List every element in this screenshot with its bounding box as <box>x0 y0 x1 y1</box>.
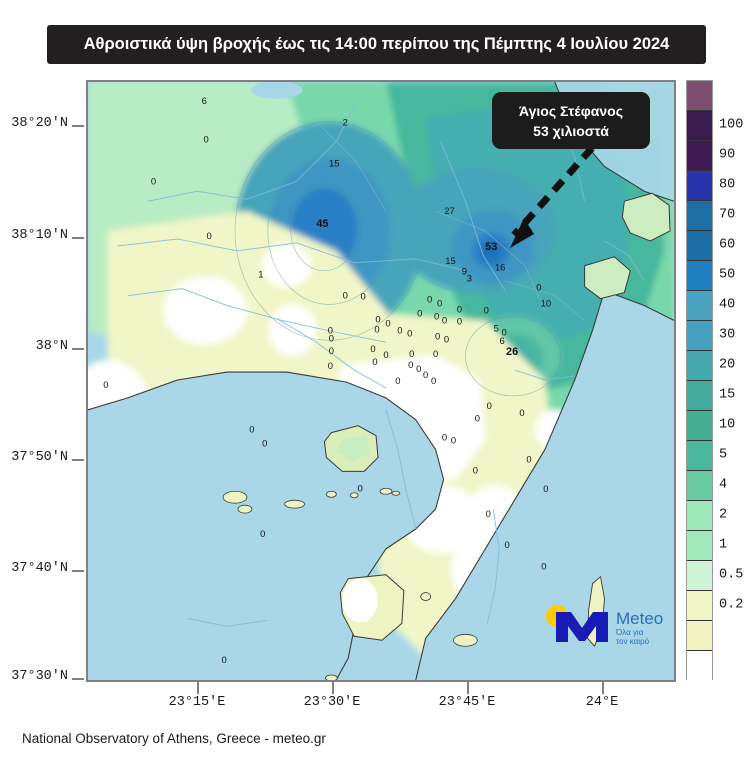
station-value: 0 <box>383 349 388 360</box>
station-value: 0 <box>207 230 212 241</box>
station-value: 0 <box>431 375 436 386</box>
station-value: 0 <box>487 400 492 411</box>
latitude-tick-mark <box>72 237 84 239</box>
colorbar-band <box>687 561 712 591</box>
station-value: 0 <box>427 294 432 305</box>
colorbar-band <box>687 621 712 651</box>
latitude-tick-label: 38°20'N <box>11 116 68 131</box>
station-value: 0 <box>417 307 422 318</box>
station-value: 0 <box>370 343 375 354</box>
station-value: 3 <box>467 273 472 284</box>
colorbar-band <box>687 291 712 321</box>
colorbar-band <box>687 141 712 171</box>
station-value: 0 <box>360 291 365 302</box>
station-value: 0 <box>372 356 377 367</box>
station-value: 45 <box>316 218 328 230</box>
station-value: 0 <box>358 482 363 493</box>
station-value: 6 <box>202 95 207 106</box>
latitude-tick-mark <box>72 570 84 572</box>
station-value: 0 <box>433 348 438 359</box>
colorbar-band <box>687 231 712 261</box>
station-value: 0 <box>473 464 478 475</box>
station-value: 0 <box>408 359 413 370</box>
longitude-tick-mark <box>332 682 334 694</box>
station-value: 0 <box>409 348 414 359</box>
station-value: 0 <box>541 561 546 572</box>
colorbar-tick-label: 100 <box>719 118 743 133</box>
station-value: 26 <box>506 346 518 358</box>
longitude-tick-label: 23°15'E <box>169 695 226 710</box>
colorbar[interactable] <box>686 80 713 680</box>
colorbar-band <box>687 441 712 471</box>
station-value: 0 <box>328 360 333 371</box>
station-value: 0 <box>434 310 439 321</box>
page-title: Αθροιστικά ύψη βροχής έως τις 14:00 περί… <box>84 35 670 54</box>
colorbar-tick-label: 30 <box>719 328 735 343</box>
colorbar-band <box>687 411 712 441</box>
station-value: 0 <box>329 332 334 343</box>
colorbar-band <box>687 81 712 111</box>
latitude-tick-mark <box>72 125 84 127</box>
station-value: 0 <box>374 323 379 334</box>
station-value: 16 <box>495 262 505 273</box>
colorbar-tick-label: 40 <box>719 298 735 313</box>
station-value: 53 <box>485 241 497 253</box>
station-value: 0 <box>221 654 226 665</box>
longitude-tick-label: 23°30'E <box>304 695 361 710</box>
station-value: 0 <box>543 483 548 494</box>
longitude-tick-mark <box>602 682 604 694</box>
colorbar-band <box>687 471 712 501</box>
station-value: 0 <box>204 134 209 145</box>
station-value: 0 <box>407 327 412 338</box>
colorbar-band <box>687 381 712 411</box>
colorbar-tick-label: 5 <box>719 448 727 463</box>
station-value: 27 <box>444 205 454 216</box>
colorbar-tick-label: 70 <box>719 208 735 223</box>
station-value: 0 <box>486 508 491 519</box>
station-value: 15 <box>445 255 455 266</box>
annotation-callout[interactable]: Άγιος Στέφανος 53 χιλιοστά <box>492 92 650 149</box>
latitude-tick-mark <box>72 348 84 350</box>
latitude-tick-mark <box>72 459 84 461</box>
station-value: 0 <box>442 432 447 443</box>
longitude-tick-mark <box>467 682 469 694</box>
longitude-tick-mark <box>197 682 199 694</box>
colorbar-tick-label: 1 <box>719 538 727 553</box>
colorbar-tick-label: 20 <box>719 358 735 373</box>
station-value: 0 <box>435 330 440 341</box>
rainfall-map[interactable]: 6201502704553151693101000000000000000005… <box>86 80 676 682</box>
station-value: 10 <box>541 297 551 308</box>
colorbar-tick-label: 2 <box>719 508 727 523</box>
colorbar-band <box>687 321 712 351</box>
station-value: 1 <box>258 269 263 280</box>
latitude-tick-mark <box>72 678 84 680</box>
station-value: 0 <box>457 303 462 314</box>
station-value: 5 <box>494 322 499 333</box>
station-value: 15 <box>329 157 339 168</box>
latitude-tick-label: 37°50'N <box>11 450 68 465</box>
colorbar-band <box>687 501 712 531</box>
station-value: 0 <box>249 424 254 435</box>
colorbar-tick-label: 80 <box>719 178 735 193</box>
station-value: 0 <box>395 375 400 386</box>
latitude-tick-label: 38°N <box>36 339 68 354</box>
station-value: 0 <box>519 407 524 418</box>
station-value: 0 <box>385 317 390 328</box>
colorbar-band <box>687 171 712 201</box>
colorbar-band <box>687 261 712 291</box>
colorbar-tick-label: 10 <box>719 418 735 433</box>
longitude-tick-label: 23°45'E <box>439 695 496 710</box>
map-canvas: 6201502704553151693101000000000000000005… <box>88 82 674 680</box>
station-value: 6 <box>500 335 505 346</box>
station-value: 0 <box>151 175 156 186</box>
colorbar-tick-label: 4 <box>719 478 727 493</box>
colorbar-band <box>687 201 712 231</box>
meteo-logo: Meteo Όλα για τον καιρό <box>538 600 670 650</box>
station-value: 0 <box>397 324 402 335</box>
colorbar-tick-label: 90 <box>719 148 735 163</box>
station-value: 0 <box>416 363 421 374</box>
colorbar-tick-label: 60 <box>719 238 735 253</box>
station-value: 0 <box>260 528 265 539</box>
colorbar-tick-label: 0.5 <box>719 568 743 583</box>
latitude-tick-label: 38°10'N <box>11 228 68 243</box>
station-value: 0 <box>442 314 447 325</box>
station-value: 0 <box>457 315 462 326</box>
station-value: 0 <box>475 413 480 424</box>
station-value: 0 <box>444 333 449 344</box>
colorbar-band <box>687 651 712 681</box>
colorbar-band <box>687 591 712 621</box>
station-value: 0 <box>484 304 489 315</box>
callout-line-2: 53 χιλιοστά <box>533 121 609 141</box>
callout-line-1: Άγιος Στέφανος <box>519 101 623 121</box>
latitude-tick-label: 37°40'N <box>11 561 68 576</box>
station-value: 0 <box>329 345 334 356</box>
station-value: 0 <box>536 282 541 293</box>
station-value: 0 <box>526 453 531 464</box>
colorbar-tick-label: 50 <box>719 268 735 283</box>
latitude-axis: 38°20'N38°10'N38°N37°50'N37°40'N37°30'N <box>0 0 68 762</box>
station-value: 2 <box>343 117 348 128</box>
logo-tagline-1: Όλα για <box>615 628 644 637</box>
station-value: 0 <box>423 369 428 380</box>
footer-attribution: National Observatory of Athens, Greece -… <box>22 731 326 746</box>
station-value: 0 <box>505 539 510 550</box>
colorbar-tick-label: 15 <box>719 388 735 403</box>
station-value: 0 <box>262 438 267 449</box>
station-value: 0 <box>103 379 108 390</box>
colorbar-band <box>687 111 712 141</box>
title-banner: Αθροιστικά ύψη βροχής έως τις 14:00 περί… <box>47 25 706 64</box>
logo-m-mark <box>556 612 608 642</box>
colorbar-tick-label: 0.2 <box>719 598 743 613</box>
colorbar-band <box>687 351 712 381</box>
colorbar-band <box>687 531 712 561</box>
logo-tagline-2: τον καιρό <box>616 637 650 646</box>
station-value: 0 <box>343 290 348 301</box>
station-value: 0 <box>437 297 442 308</box>
latitude-tick-label: 37°30'N <box>11 669 68 684</box>
longitude-tick-label: 24°E <box>586 695 618 710</box>
logo-wordmark: Meteo <box>616 609 663 628</box>
station-value: 0 <box>451 435 456 446</box>
